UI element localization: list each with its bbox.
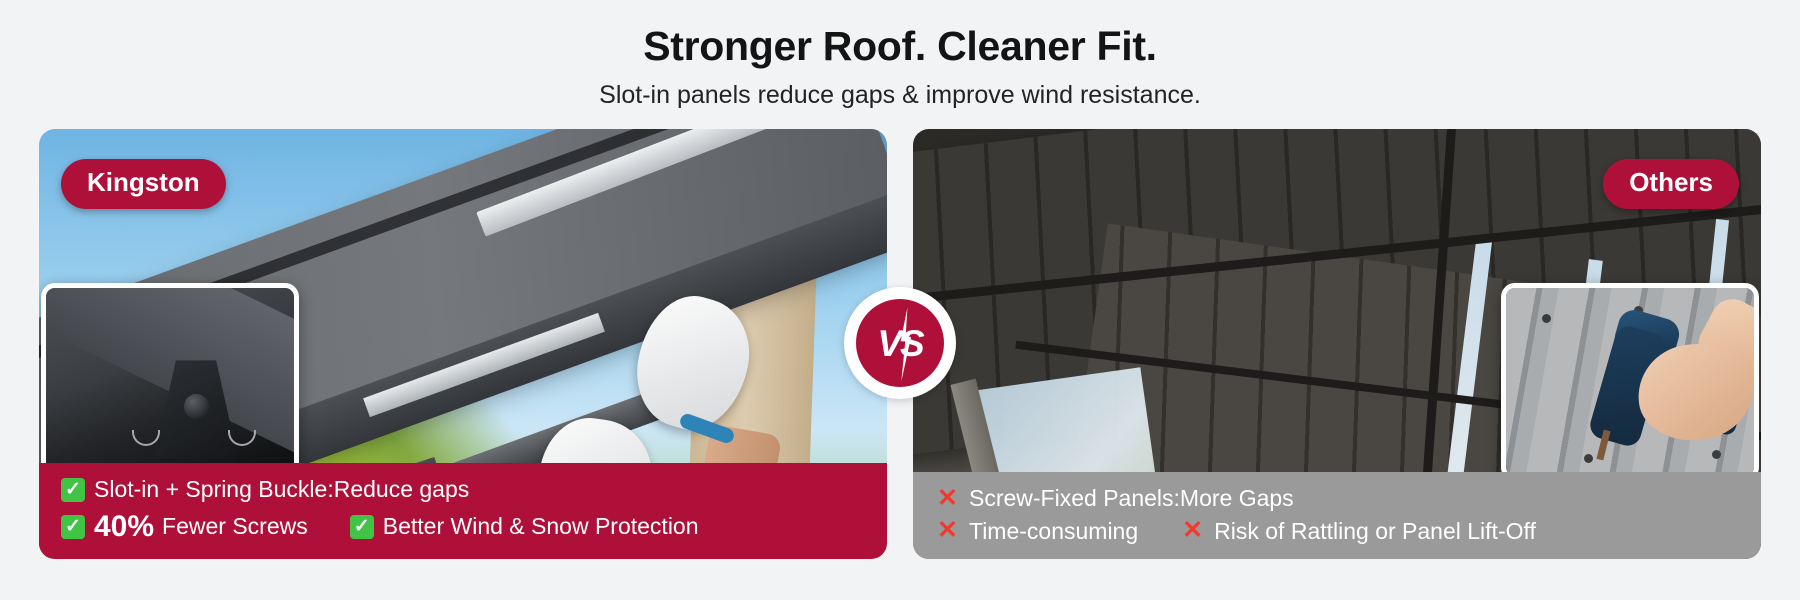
panel-others[interactable]: Others ✕	[913, 129, 1761, 559]
check-icon: ✓	[61, 515, 85, 539]
drill-closeup	[1506, 288, 1754, 476]
caption-text: Risk of Rattling or Panel Lift-Off	[1214, 517, 1536, 546]
subheadline: Slot-in panels reduce gaps & improve win…	[0, 80, 1800, 110]
headline: Stronger Roof. Cleaner Fit.	[0, 22, 1800, 70]
badge-others: Others	[1603, 159, 1739, 209]
kingston-inset-photo[interactable]	[41, 283, 299, 481]
vs-label: VS	[877, 325, 922, 362]
vs-medallion: VS	[844, 287, 956, 399]
caption-line-1: ✓ Slot-in + Spring Buckle:Reduce gaps	[61, 475, 865, 504]
comparison-banner: Stronger Roof. Cleaner Fit. Slot-in pane…	[0, 0, 1800, 600]
caption-item: ✕ Screw-Fixed Panels:More Gaps	[935, 484, 1294, 513]
check-icon: ✓	[350, 515, 374, 539]
buckle-closeup	[46, 288, 294, 476]
banner-header: Stronger Roof. Cleaner Fit. Slot-in pane…	[0, 0, 1800, 110]
screw-dot	[1712, 450, 1721, 459]
caption-line-2: ✓ 40% Fewer Screws ✓ Better Wind & Snow …	[61, 508, 865, 546]
caption-text: Fewer Screws	[162, 512, 308, 541]
percent-emphasis: 40%	[94, 508, 154, 546]
spring-clip-left	[132, 430, 160, 446]
others-caption-bar: ✕ Screw-Fixed Panels:More Gaps ✕ Time-co…	[913, 472, 1761, 560]
badge-kingston: Kingston	[61, 159, 226, 209]
caption-item: ✓ 40% Fewer Screws	[61, 508, 308, 546]
vs-circle: VS	[856, 299, 944, 387]
caption-item: ✕ Time-consuming	[935, 517, 1138, 546]
caption-line-1: ✕ Screw-Fixed Panels:More Gaps	[935, 484, 1739, 513]
check-icon: ✓	[61, 478, 85, 502]
panel-kingston[interactable]: Kingston ✓ Slot-in + Spring Buckle:Reduc…	[39, 129, 887, 559]
cross-icon: ✕	[935, 519, 960, 544]
screw-dot	[1584, 454, 1593, 463]
comparison-row: Kingston ✓ Slot-in + Spring Buckle:Reduc…	[39, 129, 1761, 559]
caption-item: ✓ Better Wind & Snow Protection	[350, 512, 699, 541]
caption-text: Time-consuming	[969, 517, 1138, 546]
screw-dot	[1542, 314, 1551, 323]
caption-text: Better Wind & Snow Protection	[383, 512, 699, 541]
caption-text: Screw-Fixed Panels:More Gaps	[969, 484, 1294, 513]
others-inset-photo[interactable]	[1501, 283, 1759, 481]
caption-item: ✓ Slot-in + Spring Buckle:Reduce gaps	[61, 475, 469, 504]
kingston-caption-bar: ✓ Slot-in + Spring Buckle:Reduce gaps ✓ …	[39, 463, 887, 559]
caption-text: Slot-in + Spring Buckle:Reduce gaps	[94, 475, 469, 504]
caption-line-2: ✕ Time-consuming ✕ Risk of Rattling or P…	[935, 517, 1739, 546]
caption-item: ✕ Risk of Rattling or Panel Lift-Off	[1180, 517, 1536, 546]
cross-icon: ✕	[935, 486, 960, 511]
cross-icon: ✕	[1180, 519, 1205, 544]
